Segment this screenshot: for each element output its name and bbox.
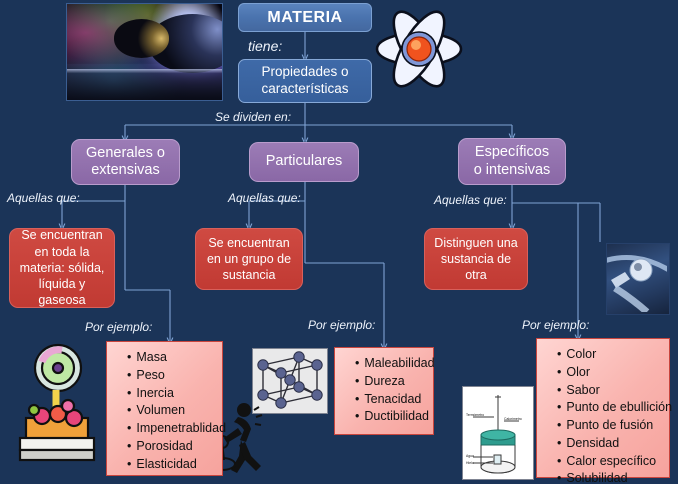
definition-line: líquida y	[39, 276, 86, 292]
definition-line: materia: sólida,	[20, 260, 105, 276]
calorimeter-diagram-image: Termómetro Calorímetro Agua Hielo	[462, 386, 534, 480]
branch-title-especificos-line2: o intensivas	[474, 162, 551, 179]
definition-line: gaseosa	[38, 292, 85, 308]
list-item: Punto de ebullición	[557, 399, 663, 417]
connector-label-por-ejemplo-generales: Por ejemplo:	[85, 320, 152, 334]
node-propiedades-line2: características	[261, 81, 348, 98]
atom-icon	[372, 6, 466, 92]
list-item: Elasticidad	[127, 456, 216, 474]
list-item: Olor	[557, 364, 663, 382]
branch-title-especificos[interactable]: Específicos o intensivas	[458, 138, 566, 185]
list-item: Sabor	[557, 382, 663, 400]
branch-title-particulares-line1: Particulares	[266, 153, 343, 170]
examples-box-especificos[interactable]: Color Olor Sabor Punto de ebullición Pun…	[536, 338, 670, 478]
connector-label-aquellas-que-particulares: Aquellas que:	[228, 191, 301, 205]
root-label: MATERIA	[267, 9, 342, 27]
list-item: Ductibilidad	[355, 408, 427, 426]
branch-title-generales-line1: Generales o	[86, 145, 165, 162]
branch-title-especificos-line1: Específicos	[475, 144, 549, 161]
definition-box-particulares[interactable]: Se encuentran en un grupo de sustancia	[195, 228, 303, 290]
space-eclipse-photo	[66, 3, 223, 101]
definition-line: Distinguen una	[434, 235, 517, 251]
connector-label-aquellas-que-generales: Aquellas que:	[7, 191, 80, 205]
examples-list-especificos: Color Olor Sabor Punto de ebullición Pun…	[547, 346, 663, 484]
definition-line: Se encuentran	[21, 227, 102, 243]
definition-line: en toda la	[35, 244, 90, 260]
planet-small	[114, 19, 170, 57]
definition-line: sustancia	[223, 267, 276, 283]
concept-map-canvas: Termómetro Calorímetro Agua Hielo MATERI…	[0, 0, 678, 484]
definition-box-generales[interactable]: Se encuentran en toda la materia: sólida…	[9, 228, 115, 308]
node-propiedades-line1: Propiedades o	[261, 64, 348, 81]
svg-text:Calorímetro: Calorímetro	[504, 417, 522, 421]
list-item: Maleabilidad	[355, 355, 427, 373]
svg-text:Termómetro: Termómetro	[466, 413, 484, 417]
svg-text:Agua: Agua	[466, 454, 474, 458]
metal-instrument-photo	[606, 243, 670, 315]
definition-line: en un grupo de	[207, 251, 291, 267]
definition-line: sustancia de	[441, 251, 511, 267]
connector-label-tiene: tiene:	[248, 38, 282, 54]
connector-label-por-ejemplo-particulares: Por ejemplo:	[308, 318, 375, 332]
water-reflection	[67, 69, 222, 100]
list-item: Punto de fusión	[557, 417, 663, 435]
branch-title-particulares[interactable]: Particulares	[249, 142, 359, 182]
examples-list-particulares: Maleabilidad Dureza Tenacidad Ductibilid…	[345, 355, 427, 426]
examples-list-generales: Masa Peso Inercia Volumen Impenetrablida…	[117, 349, 216, 473]
branch-title-generales-line2: extensivas	[91, 162, 160, 179]
svg-text:Hielo: Hielo	[466, 461, 474, 465]
examples-box-generales[interactable]: Masa Peso Inercia Volumen Impenetrablida…	[106, 341, 223, 476]
definition-line: otra	[465, 267, 487, 283]
list-item: Dureza	[355, 373, 427, 391]
branch-title-generales[interactable]: Generales o extensivas	[71, 139, 180, 185]
list-item: Peso	[127, 367, 216, 385]
list-item: Color	[557, 346, 663, 364]
connector-label-aquellas-que-especificos: Aquellas que:	[434, 193, 507, 207]
list-item: Inercia	[127, 385, 216, 403]
list-item: Masa	[127, 349, 216, 367]
definition-line: Se encuentran	[208, 235, 289, 251]
list-item: Tenacidad	[355, 391, 427, 409]
list-item: Densidad	[557, 435, 663, 453]
root-node-materia[interactable]: MATERIA	[238, 3, 372, 32]
examples-box-particulares[interactable]: Maleabilidad Dureza Tenacidad Ductibilid…	[334, 347, 434, 435]
list-item: Calor específico	[557, 453, 663, 471]
weighing-scale-fruit-image	[12, 340, 104, 472]
list-item: Impenetrablidad	[127, 420, 216, 438]
list-item: Porosidad	[127, 438, 216, 456]
connector-label-se-dividen-en: Se dividen en:	[215, 110, 291, 124]
list-item: Volumen	[127, 402, 216, 420]
connector-label-por-ejemplo-especificos: Por ejemplo:	[522, 318, 589, 332]
node-propiedades[interactable]: Propiedades o características	[238, 59, 372, 103]
list-item: Solubilidad	[557, 470, 663, 484]
definition-box-especificos[interactable]: Distinguen una sustancia de otra	[424, 228, 528, 290]
